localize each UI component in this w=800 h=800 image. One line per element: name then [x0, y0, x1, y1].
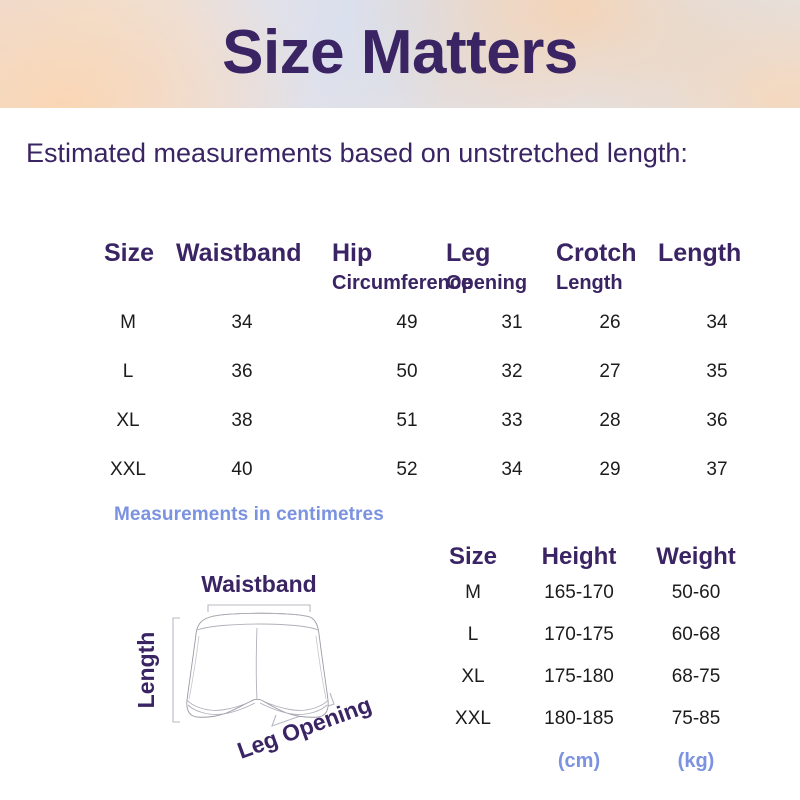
cell-size: XXL: [96, 457, 160, 483]
table-row: XXL 180-185 75-85: [432, 706, 732, 748]
cell-size: XL: [96, 408, 160, 434]
table-row: L 36 50 32 27 35: [96, 359, 776, 408]
cell-height: 180-185: [520, 706, 638, 732]
cell-length: 35: [658, 359, 776, 385]
table-row: M 34 49 31 26 34: [96, 310, 776, 359]
label-length: Length: [133, 632, 159, 709]
column-header-size: Size: [432, 542, 514, 572]
cell-length: 37: [658, 457, 776, 483]
cell-size: XXL: [432, 706, 514, 732]
size-table-units-row: (cm) (kg): [432, 748, 732, 782]
cell-crotch: 28: [554, 408, 666, 434]
cell-length: 36: [658, 408, 776, 434]
column-header-leg-opening: Leg Opening: [446, 238, 527, 297]
cell-size: M: [96, 310, 160, 336]
unit-weight: (kg): [640, 748, 752, 774]
units-note: Measurements in centimetres: [114, 504, 384, 526]
cell-weight: 68-75: [640, 664, 752, 690]
unit-height: (cm): [520, 748, 638, 774]
table-row: XL 38 51 33 28 36: [96, 408, 776, 457]
column-header-length: Length: [658, 238, 741, 269]
measurements-table: Size Waistband Hip Circumference Leg Ope…: [96, 238, 776, 506]
table-row: M 165-170 50-60: [432, 580, 732, 622]
cell-weight: 50-60: [640, 580, 752, 606]
table-row: XL 175-180 68-75: [432, 664, 732, 706]
shorts-diagram: Waistband Length Leg Opening: [130, 560, 420, 785]
cell-waistband: 36: [174, 359, 310, 385]
label-waistband: Waistband: [201, 571, 316, 597]
cell-length: 34: [658, 310, 776, 336]
table-row: L 170-175 60-68: [432, 622, 732, 664]
cell-waistband: 34: [174, 310, 310, 336]
cell-size: L: [432, 622, 514, 648]
column-header-height: Height: [520, 542, 638, 572]
cell-height: 170-175: [520, 622, 638, 648]
column-header-waistband: Waistband: [176, 238, 301, 269]
cell-size: M: [432, 580, 514, 606]
cell-waistband: 40: [174, 457, 310, 483]
shorts-illustration: Waistband Length Leg Opening: [130, 560, 420, 785]
waistband-bracket: [208, 605, 310, 612]
length-bracket: [173, 618, 180, 722]
table-header-row: Size Waistband Hip Circumference Leg Ope…: [96, 238, 776, 310]
shorts-outline: [187, 613, 328, 717]
cell-height: 175-180: [520, 664, 638, 690]
cell-height: 165-170: [520, 580, 638, 606]
page-title: Size Matters: [0, 14, 800, 92]
cell-crotch: 26: [554, 310, 666, 336]
table-row: XXL 40 52 34 29 37: [96, 457, 776, 506]
column-header-weight: Weight: [640, 542, 752, 572]
cell-size: XL: [432, 664, 514, 690]
header-banner: Size Matters: [0, 0, 800, 108]
cell-weight: 60-68: [640, 622, 752, 648]
column-header-crotch-length: Crotch Length: [556, 238, 637, 297]
cell-crotch: 29: [554, 457, 666, 483]
size-table-header-row: Size Height Weight: [432, 542, 732, 580]
cell-size: L: [96, 359, 160, 385]
intro-text: Estimated measurements based on unstretc…: [26, 134, 756, 173]
cell-weight: 75-85: [640, 706, 752, 732]
size-height-weight-table: Size Height Weight M 165-170 50-60 L 170…: [432, 542, 732, 782]
column-header-size: Size: [104, 238, 154, 269]
cell-waistband: 38: [174, 408, 310, 434]
cell-crotch: 27: [554, 359, 666, 385]
